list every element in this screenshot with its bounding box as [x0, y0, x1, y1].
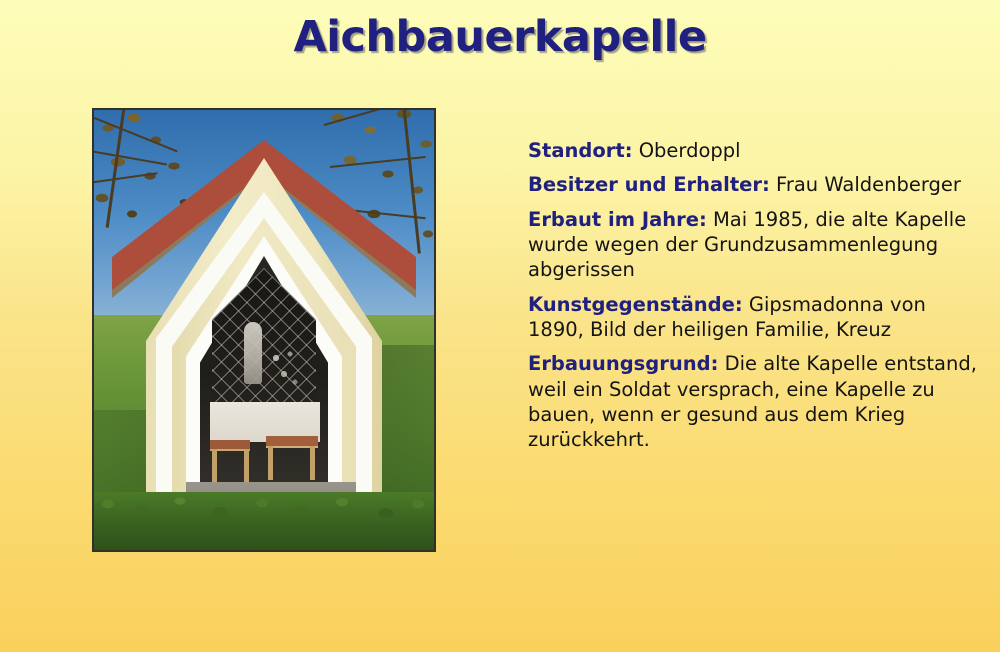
photo-madonna-statue	[244, 322, 262, 384]
slide-root: Aichbauerkapelle	[0, 0, 1000, 652]
photo-branch	[324, 110, 425, 126]
info-value: Oberdoppl	[639, 139, 741, 162]
info-label: Besitzer und Erhalter:	[528, 173, 770, 196]
info-label: Erbauungsgrund:	[528, 352, 718, 375]
info-entry-kunstgegenstaende: Kunstgegenstände: Gipsmadonna von 1890, …	[528, 292, 980, 343]
photo-flowers	[268, 348, 302, 396]
info-entry-erbauungsgrund: Erbauungsgrund: Die alte Kapelle entstan…	[528, 351, 980, 452]
info-label: Standort:	[528, 139, 633, 162]
photo-branch	[94, 116, 178, 152]
page-title: Aichbauerkapelle	[0, 12, 1000, 62]
photo-bench-leg	[310, 446, 315, 480]
photo-bench-left	[210, 440, 250, 449]
photo-bench-leg	[244, 449, 249, 483]
info-value: Frau Waldenberger	[776, 173, 961, 196]
info-entry-besitzer: Besitzer und Erhalter: Frau Waldenberger	[528, 172, 980, 197]
chapel-photo-image	[94, 110, 434, 550]
info-list: Standort: Oberdoppl Besitzer und Erhalte…	[528, 138, 980, 462]
photo-bench-right	[266, 436, 318, 446]
photo-bench-leg	[212, 449, 217, 483]
photo-bench-leg	[268, 446, 273, 480]
info-label: Erbaut im Jahre:	[528, 208, 707, 231]
info-label: Kunstgegenstände:	[528, 293, 743, 316]
info-entry-standort: Standort: Oberdoppl	[528, 138, 980, 163]
chapel-photo	[92, 108, 436, 552]
info-entry-erbaut: Erbaut im Jahre: Mai 1985, die alte Kape…	[528, 207, 980, 283]
photo-trunk	[402, 110, 421, 254]
photo-branch	[94, 150, 167, 166]
photo-foreground-grass	[94, 492, 434, 550]
photo-branch	[94, 172, 157, 184]
